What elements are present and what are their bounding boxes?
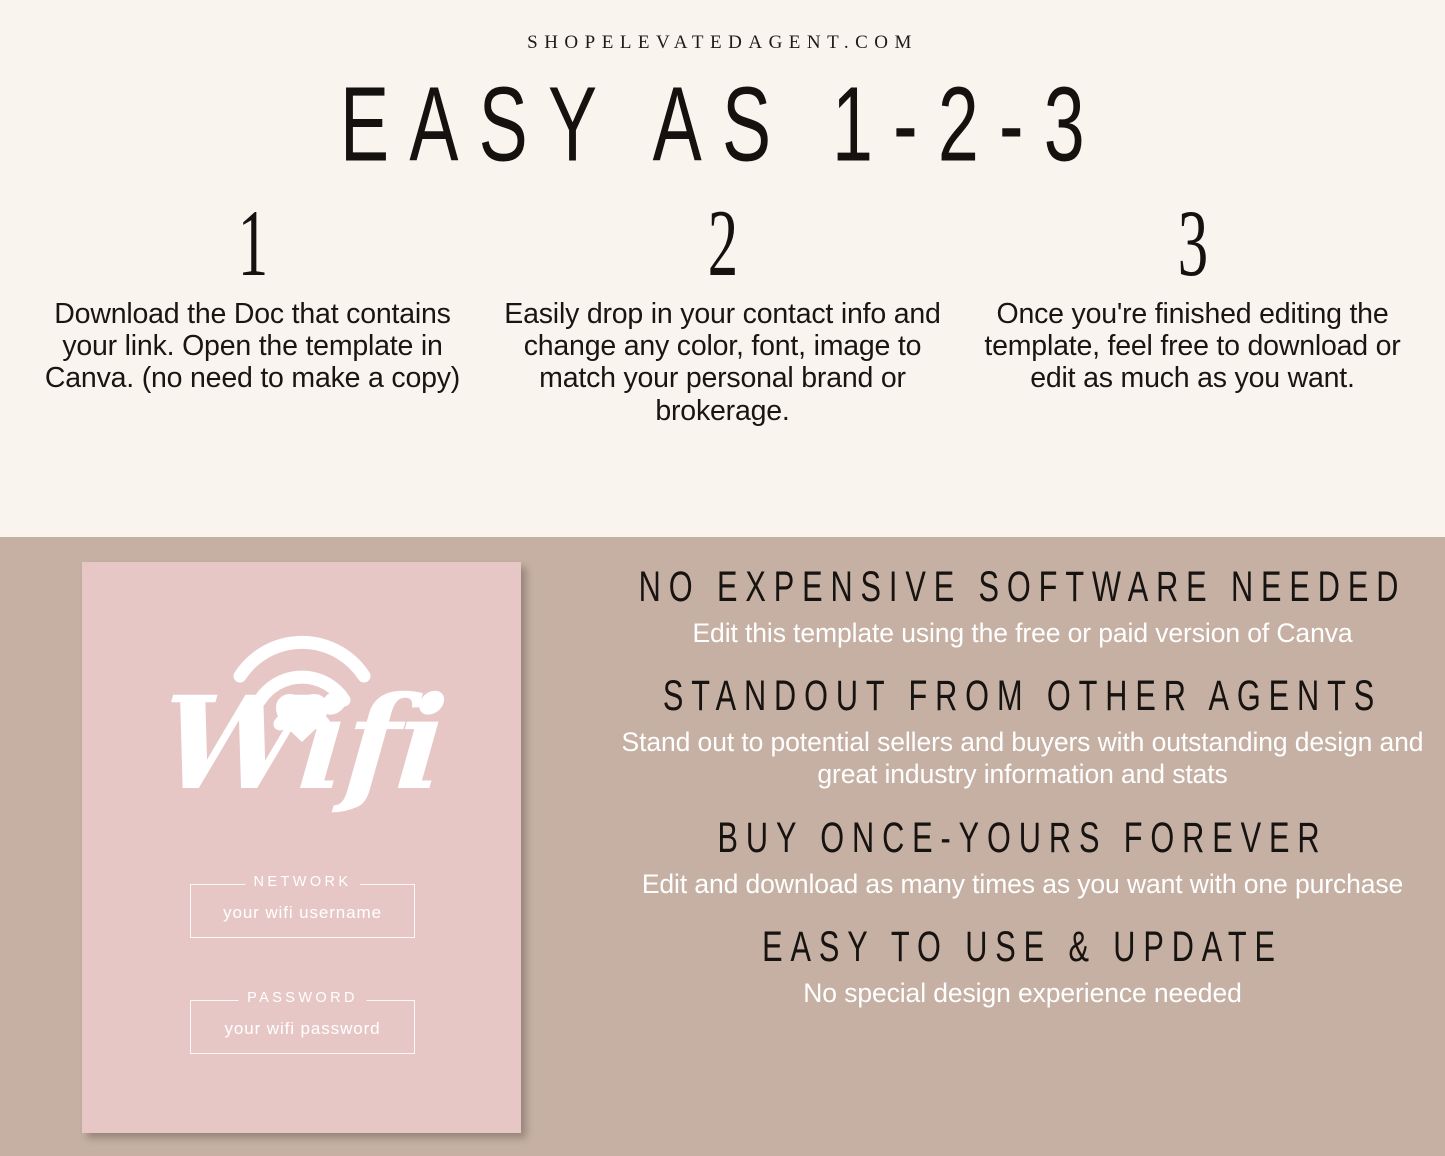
feature-title: NO EXPENSIVE SOFTWARE NEEDED — [630, 563, 1416, 611]
wifi-wordmark: Wifi — [102, 680, 502, 808]
feature-item-1: NO EXPENSIVE SOFTWARE NEEDED Edit this t… — [600, 561, 1445, 650]
step-item-2: 2 Easily drop in your contact info and c… — [488, 196, 958, 427]
feature-item-4: EASY TO USE & UPDATE No special design e… — [600, 921, 1445, 1010]
password-field-box[interactable]: PASSWORD your wifi password — [190, 1000, 415, 1054]
network-field-value[interactable]: your wifi username — [191, 885, 414, 937]
steps-list: 1 Download the Doc that contains your li… — [0, 196, 1445, 427]
step-item-1: 1 Download the Doc that contains your li… — [18, 196, 488, 395]
network-field-box[interactable]: NETWORK your wifi username — [190, 884, 415, 938]
step-number: 2 — [546, 196, 900, 316]
feature-title: BUY ONCE-YOURS FOREVER — [630, 815, 1416, 863]
step-item-3: 3 Once you're finished editing the templ… — [958, 196, 1428, 395]
step-number: 1 — [76, 196, 430, 316]
feature-title: STANDOUT FROM OTHER AGENTS — [630, 672, 1416, 720]
feature-body: No special design experience needed — [600, 978, 1445, 1010]
network-field[interactable]: NETWORK your wifi username — [190, 884, 415, 938]
features-list: NO EXPENSIVE SOFTWARE NEEDED Edit this t… — [600, 561, 1445, 1010]
password-field[interactable]: PASSWORD your wifi password — [190, 1000, 415, 1054]
poster: SHOPELEVATEDAGENT.COM EASY AS 1-2-3 1 Do… — [0, 0, 1445, 1156]
top-section: SHOPELEVATEDAGENT.COM EASY AS 1-2-3 1 Do… — [0, 0, 1445, 537]
feature-body: Edit this template using the free or pai… — [600, 618, 1445, 650]
step-description: Easily drop in your contact info and cha… — [502, 298, 944, 427]
page-title: EASY AS 1-2-3 — [58, 72, 1387, 178]
wifi-card-preview: Wifi NETWORK your wifi username PASSWORD… — [82, 562, 521, 1133]
feature-body: Edit and download as many times as you w… — [600, 869, 1445, 901]
feature-body: Stand out to potential sellers and buyer… — [600, 727, 1445, 791]
feature-item-2: STANDOUT FROM OTHER AGENTS Stand out to … — [600, 670, 1445, 791]
feature-title: EASY TO USE & UPDATE — [630, 924, 1416, 972]
bottom-section: Wifi NETWORK your wifi username PASSWORD… — [0, 537, 1445, 1156]
wifi-wordmark-text: Wifi — [155, 680, 448, 808]
step-number: 3 — [1016, 196, 1370, 316]
wifi-logo: Wifi — [82, 614, 521, 914]
password-field-value[interactable]: your wifi password — [191, 1001, 414, 1053]
feature-item-3: BUY ONCE-YOURS FOREVER Edit and download… — [600, 812, 1445, 901]
site-url: SHOPELEVATEDAGENT.COM — [0, 32, 1445, 54]
